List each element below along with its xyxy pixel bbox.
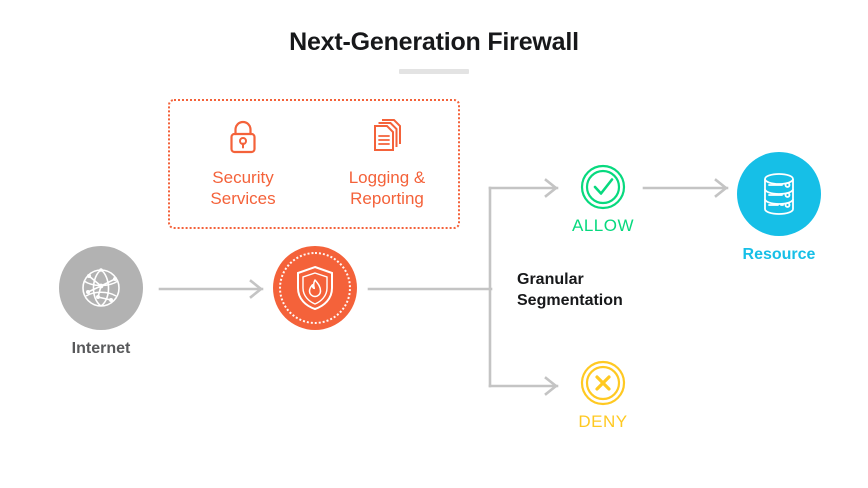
service-item-security[interactable]: Security Services <box>178 115 308 209</box>
globe-network-icon <box>77 264 125 312</box>
decision-label-deny: DENY <box>563 412 643 432</box>
check-circle-icon <box>563 164 643 210</box>
firewall-dotted-ring <box>279 252 351 324</box>
service-label-security: Security Services <box>178 167 308 209</box>
diagram-canvas: Next-Generation Firewall <box>0 0 868 488</box>
node-resource[interactable]: Resource <box>737 152 821 264</box>
resource-circle <box>737 152 821 236</box>
firewall-circle <box>273 246 357 330</box>
decision-allow[interactable]: ALLOW <box>563 164 643 236</box>
security-services-panel: Security Services Logging & Reporting <box>168 99 460 229</box>
x-circle-icon <box>563 360 643 406</box>
node-firewall[interactable] <box>273 246 357 340</box>
node-internet[interactable]: Internet <box>59 246 143 358</box>
decision-label-allow: ALLOW <box>563 216 643 236</box>
node-label-internet: Internet <box>59 340 143 358</box>
documents-icon <box>322 115 452 161</box>
decision-deny[interactable]: DENY <box>563 360 643 432</box>
padlock-icon <box>178 115 308 161</box>
database-icon <box>756 169 802 219</box>
granular-segmentation-label: Granular Segmentation <box>517 269 677 311</box>
service-label-logging: Logging & Reporting <box>322 167 452 209</box>
node-label-resource: Resource <box>737 246 821 264</box>
service-item-logging[interactable]: Logging & Reporting <box>322 115 452 209</box>
internet-circle <box>59 246 143 330</box>
